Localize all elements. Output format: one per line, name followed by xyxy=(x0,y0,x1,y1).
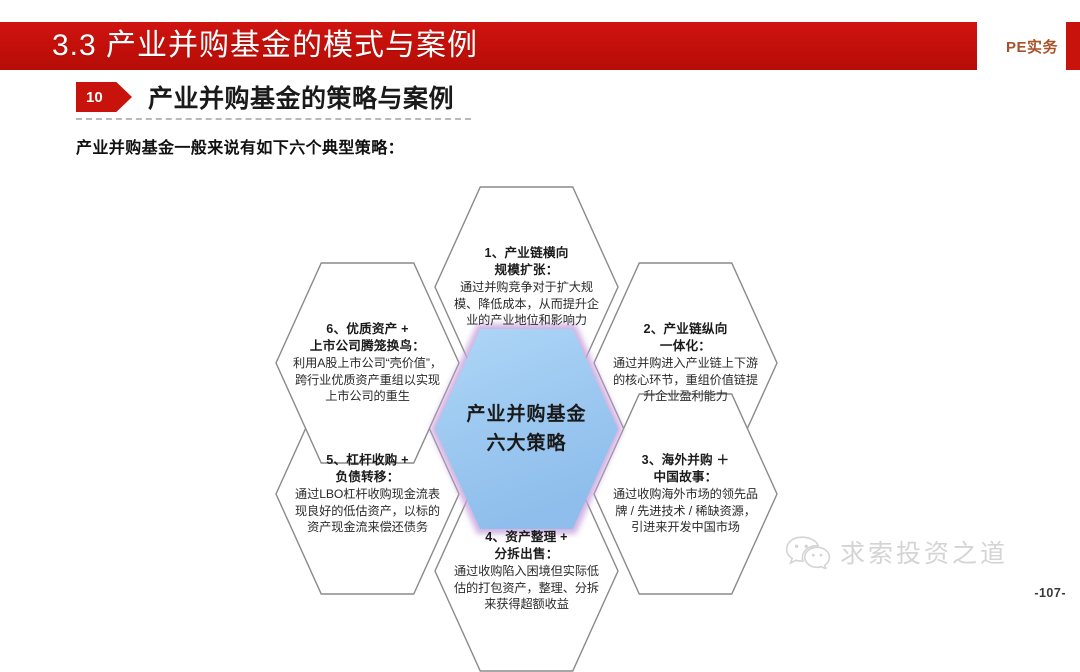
hex-cell-5-title: 5、杠杆收购 + 负债转移： xyxy=(326,452,408,485)
watermark-text: 求索投资之道 xyxy=(840,534,1008,570)
hex-cell-5-title-line1: 5、杠杆收购 + xyxy=(326,453,408,467)
watermark: 求索投资之道 xyxy=(785,534,1008,570)
hex-cell-4-body: 通过收购陷入困境但实际低估的打包资产，整理、分拆来获得超额收益 xyxy=(451,563,602,613)
hex-center-label: 产业并购基金 六大策略 xyxy=(466,400,586,458)
wechat-icon xyxy=(785,535,831,569)
hex-cell-6-title-line1: 6、优质资产 + xyxy=(326,322,408,336)
hex-cell-6-body: 利用A股上市公司“壳价值”，跨行业优质资产重组以实现上市公司的重生 xyxy=(292,355,443,405)
page-title: 3.3 产业并购基金的模式与案例 xyxy=(52,26,478,66)
hex-cell-1-title-line2: 规模扩张： xyxy=(495,263,559,277)
hex-cell-2-title: 2、产业链纵向 一体化： xyxy=(644,321,728,354)
hex-cell-2-title-line2: 一体化： xyxy=(660,339,711,353)
lead-in-text: 产业并购基金一般来说有如下六个典型策略： xyxy=(76,134,404,158)
hexagon-strategy-diagram: 1、产业链横向 规模扩张： 通过并购竞争对于扩大规模、降低成本，从而提升企业的产… xyxy=(248,178,808,598)
hex-cell-4-title: 4、资产整理 + 分拆出售： xyxy=(485,529,567,562)
section-underline-divider xyxy=(76,118,471,120)
wechat-icon-glyph xyxy=(785,535,831,569)
hex-cell-4-title-line1: 4、资产整理 + xyxy=(485,530,567,544)
brand-tag: PE实务 xyxy=(1006,36,1058,57)
page-number: -107- xyxy=(1034,586,1066,600)
hex-cell-1-title-line1: 1、产业链横向 xyxy=(485,246,569,260)
hex-cell-1-body: 通过并购竞争对于扩大规模、降低成本，从而提升企业的产业地位和影响力 xyxy=(451,279,602,329)
hex-cell-3-title-line1: 3、海外并购 ＋ xyxy=(642,453,730,467)
hex-cell-6-title-line2: 上市公司腾笼换鸟： xyxy=(310,339,425,353)
hex-cell-1-title: 1、产业链横向 规模扩张： xyxy=(485,245,569,278)
hex-cell-4-title-line2: 分拆出售： xyxy=(495,547,559,561)
hex-cell-3-body: 通过收购海外市场的领先品牌 / 先进技术 / 稀缺资源，引进来开发中国市场 xyxy=(610,486,761,536)
title-bar-right-cap xyxy=(1066,22,1080,70)
section-heading: 10 产业并购基金的策略与案例 xyxy=(76,79,454,115)
hex-cell-2-title-line1: 2、产业链纵向 xyxy=(644,322,728,336)
hex-cell-5-title-line2: 负债转移： xyxy=(336,470,400,484)
section-title: 产业并购基金的策略与案例 xyxy=(148,79,454,115)
section-number-badge: 10 xyxy=(76,82,132,112)
hex-cell-5-body: 通过LBO杠杆收购现金流表现良好的低估资产，以标的资产现金流来偿还债务 xyxy=(292,486,443,536)
hex-center-label-line2: 六大策略 xyxy=(486,433,566,454)
hex-center-cell: 产业并购基金 六大策略 xyxy=(434,328,619,530)
hex-cell-3-title-line2: 中国故事： xyxy=(654,470,718,484)
hex-center-label-line1: 产业并购基金 xyxy=(466,404,586,425)
hex-cell-2-body: 通过并购进入产业链上下游的核心环节，重组价值链提升企业盈利能力 xyxy=(610,355,761,405)
hex-cell-6-title: 6、优质资产 + 上市公司腾笼换鸟： xyxy=(310,321,425,354)
hex-cell-3-title: 3、海外并购 ＋ 中国故事： xyxy=(642,452,730,485)
